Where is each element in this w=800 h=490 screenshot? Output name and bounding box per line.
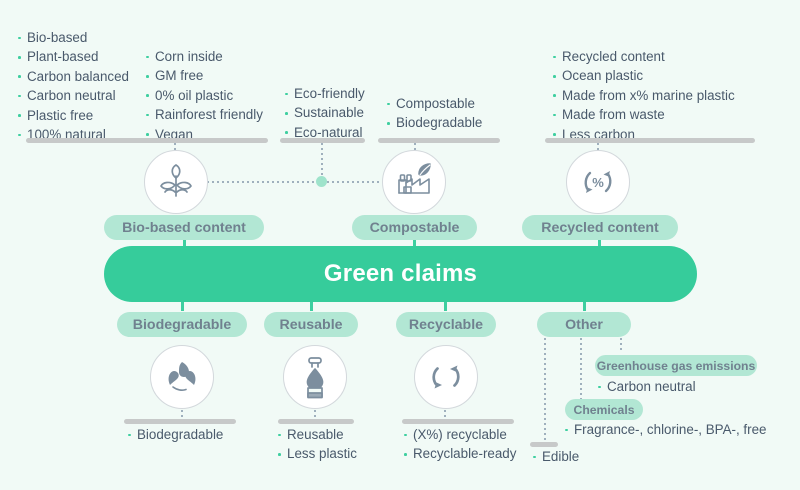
list-item: Carbon neutral	[16, 86, 129, 105]
pill-label: Recyclable	[409, 317, 483, 333]
list-item: Reusable	[276, 425, 357, 444]
pill-label: Reusable	[279, 317, 342, 333]
pill-label: Chemicals	[574, 403, 635, 417]
connector-other-edible	[544, 338, 546, 442]
green-claims-diagram: Bio-based Plant-based Carbon balanced Ca…	[0, 0, 800, 490]
list-item: Fragrance-, chlorine-, BPA-, free	[563, 420, 767, 439]
claims-list-eco-group: Eco-friendly Sustainable Eco-natural	[283, 84, 365, 142]
pill-label: Compostable	[370, 220, 460, 236]
leaf-recycle-icon	[150, 345, 214, 409]
list-item: Ocean plastic	[551, 66, 735, 85]
list-item: 0% oil plastic	[144, 86, 263, 105]
list-item: Sustainable	[283, 103, 365, 122]
connector-bio-compostable-horizontal	[207, 181, 379, 183]
connector-other-chemicals	[580, 338, 582, 404]
pill-biodegradable[interactable]: Biodegradable	[117, 312, 247, 337]
pill-compostable[interactable]: Compostable	[352, 215, 477, 240]
pill-bio-based-content[interactable]: Bio-based content	[104, 215, 264, 240]
pill-greenhouse-gas-emissions[interactable]: Greenhouse gas emissions	[595, 355, 757, 376]
list-item: Less plastic	[276, 444, 357, 463]
separator-bar-recyclable	[402, 419, 514, 424]
claims-list-bio-group-2: Corn inside GM free 0% oil plastic Rainf…	[144, 47, 263, 144]
separator-bar-compostable	[378, 138, 500, 143]
connector-other-greenhouse	[620, 338, 622, 352]
list-item: Plant-based	[16, 47, 129, 66]
plant-leaves-icon	[144, 150, 208, 214]
pill-label: Recycled content	[541, 220, 658, 236]
green-connector-other	[583, 302, 586, 311]
list-item: Compostable	[385, 94, 482, 113]
list-item: Biodegradable	[385, 113, 482, 132]
green-connector-recyclable	[444, 302, 447, 311]
pill-label: Greenhouse gas emissions	[597, 359, 756, 373]
list-item: Made from x% marine plastic	[551, 86, 735, 105]
list-item: Biodegradable	[126, 425, 223, 444]
bottle-droplet-icon	[283, 345, 347, 409]
green-claims-bar: Green claims	[104, 246, 697, 302]
separator-bar-bio	[26, 138, 268, 143]
green-connector-reusable	[310, 302, 313, 311]
separator-bar-recycled	[545, 138, 755, 143]
list-item: Rainforest friendly	[144, 105, 263, 124]
pill-label: Bio-based content	[122, 220, 246, 236]
green-connector-biodegradable	[181, 302, 184, 311]
list-item: GM free	[144, 66, 263, 85]
list-item: Corn inside	[144, 47, 263, 66]
list-item: Recycled content	[551, 47, 735, 66]
pill-reusable[interactable]: Reusable	[264, 312, 358, 337]
pill-label: Biodegradable	[133, 317, 232, 333]
page-title: Green claims	[324, 260, 477, 288]
pill-label: Other	[565, 317, 603, 333]
claims-list-compostable: Compostable Biodegradable	[385, 94, 482, 133]
pill-other[interactable]: Other	[537, 312, 631, 337]
svg-text:%: %	[592, 175, 604, 190]
claims-list-biodegradable: Biodegradable	[126, 425, 223, 444]
connector-junction-dot	[316, 176, 327, 187]
list-item: Recyclable-ready	[402, 444, 516, 463]
list-item: Made from waste	[551, 105, 735, 124]
claims-list-reusable: Reusable Less plastic	[276, 425, 357, 464]
pill-recycled-content[interactable]: Recycled content	[522, 215, 678, 240]
recycle-percent-icon: %	[566, 150, 630, 214]
pill-recyclable[interactable]: Recyclable	[396, 312, 496, 337]
list-item: Eco-friendly	[283, 84, 365, 103]
separator-bar-biodegradable	[124, 419, 236, 424]
factory-leaf-icon	[382, 150, 446, 214]
list-item: Plastic free	[16, 106, 129, 125]
claims-list-bio-group-1: Bio-based Plant-based Carbon balanced Ca…	[16, 28, 129, 144]
list-item: Carbon neutral	[596, 377, 696, 396]
list-item: (X%) recyclable	[402, 425, 516, 444]
list-item: Edible	[531, 447, 579, 466]
list-item: Bio-based	[16, 28, 129, 47]
list-item: Carbon balanced	[16, 67, 129, 86]
claims-list-recyclable: (X%) recyclable Recyclable-ready	[402, 425, 516, 464]
claims-list-recycled: Recycled content Ocean plastic Made from…	[551, 47, 735, 144]
recycle-arrows-icon	[414, 345, 478, 409]
separator-bar-reusable	[278, 419, 354, 424]
pill-chemicals[interactable]: Chemicals	[565, 399, 643, 420]
